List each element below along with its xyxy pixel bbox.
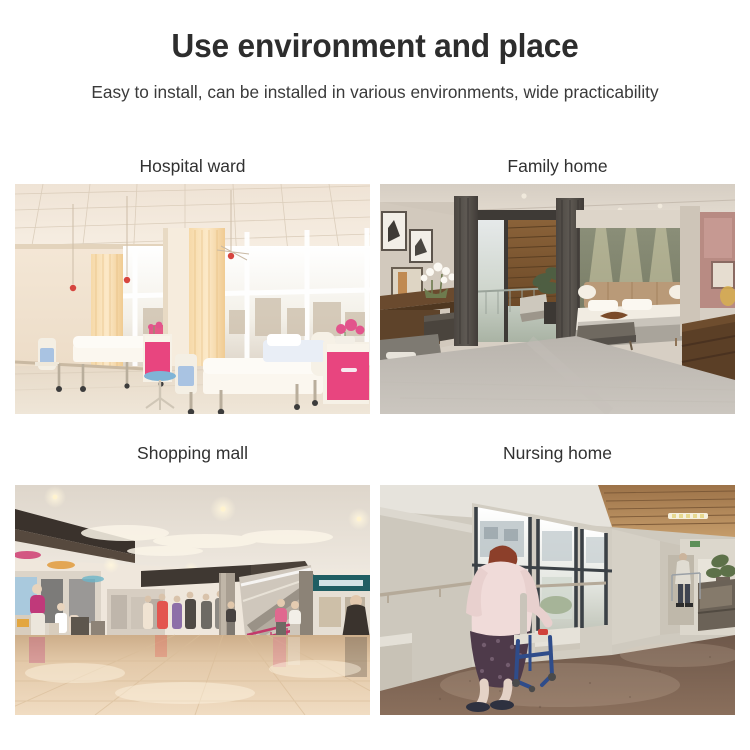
page-root: Use environment and place Easy to instal… <box>0 0 750 750</box>
page-title: Use environment and place <box>15 26 735 66</box>
page-subtitle: Easy to install, can be installed in var… <box>6 80 745 104</box>
card-nursing-home: Nursing home <box>380 415 735 715</box>
hospital-ward-photo <box>15 184 370 414</box>
card-family-home: Family home <box>380 140 735 414</box>
nursing-home-photo <box>380 485 735 715</box>
environment-grid: Hospital ward <box>15 140 735 715</box>
header: Use environment and place Easy to instal… <box>0 0 750 104</box>
card-label: Nursing home <box>380 415 735 485</box>
card-shopping-mall: Shopping mall <box>15 415 370 715</box>
card-label: Shopping mall <box>15 415 370 485</box>
card-label: Family home <box>380 140 735 184</box>
card-label: Hospital ward <box>15 140 370 184</box>
card-hospital-ward: Hospital ward <box>15 140 370 414</box>
family-home-photo <box>380 184 735 414</box>
shopping-mall-photo <box>15 485 370 715</box>
grid-row: Shopping mall <box>15 415 735 715</box>
grid-row: Hospital ward <box>15 140 735 414</box>
